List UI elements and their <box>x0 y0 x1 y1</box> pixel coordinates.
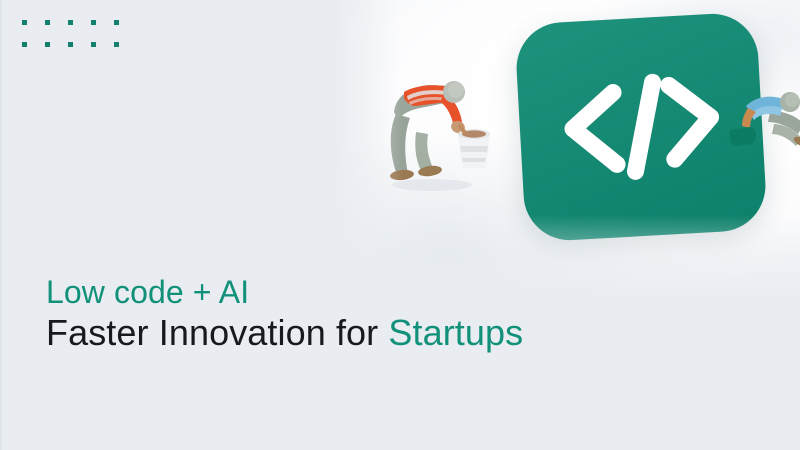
grid-dot <box>22 42 27 47</box>
grid-dot <box>114 42 119 47</box>
grid-dot <box>114 20 119 25</box>
grid-dot <box>91 20 96 25</box>
grid-dot <box>22 20 27 25</box>
headline-line-1: Low code + AI <box>46 272 523 312</box>
grid-dot <box>68 42 73 47</box>
headline-line-2-prefix: Faster Innovation for <box>46 312 388 353</box>
grid-dot <box>45 42 50 47</box>
code-brackets-icon <box>514 11 768 242</box>
code-card <box>514 11 768 242</box>
headline-block: Low code + AI Faster Innovation for Star… <box>46 272 523 356</box>
worker-with-bucket-figurine <box>380 72 496 194</box>
promo-banner: Low code + AI Faster Innovation for Star… <box>0 0 800 450</box>
dot-grid <box>22 20 137 64</box>
grid-dot <box>91 42 96 47</box>
grid-dot <box>45 20 50 25</box>
grid-dot <box>68 20 73 25</box>
headline-line-2: Faster Innovation for Startups <box>46 310 523 356</box>
hero-photo <box>332 0 800 300</box>
headline-line-2-accent: Startups <box>388 312 523 353</box>
